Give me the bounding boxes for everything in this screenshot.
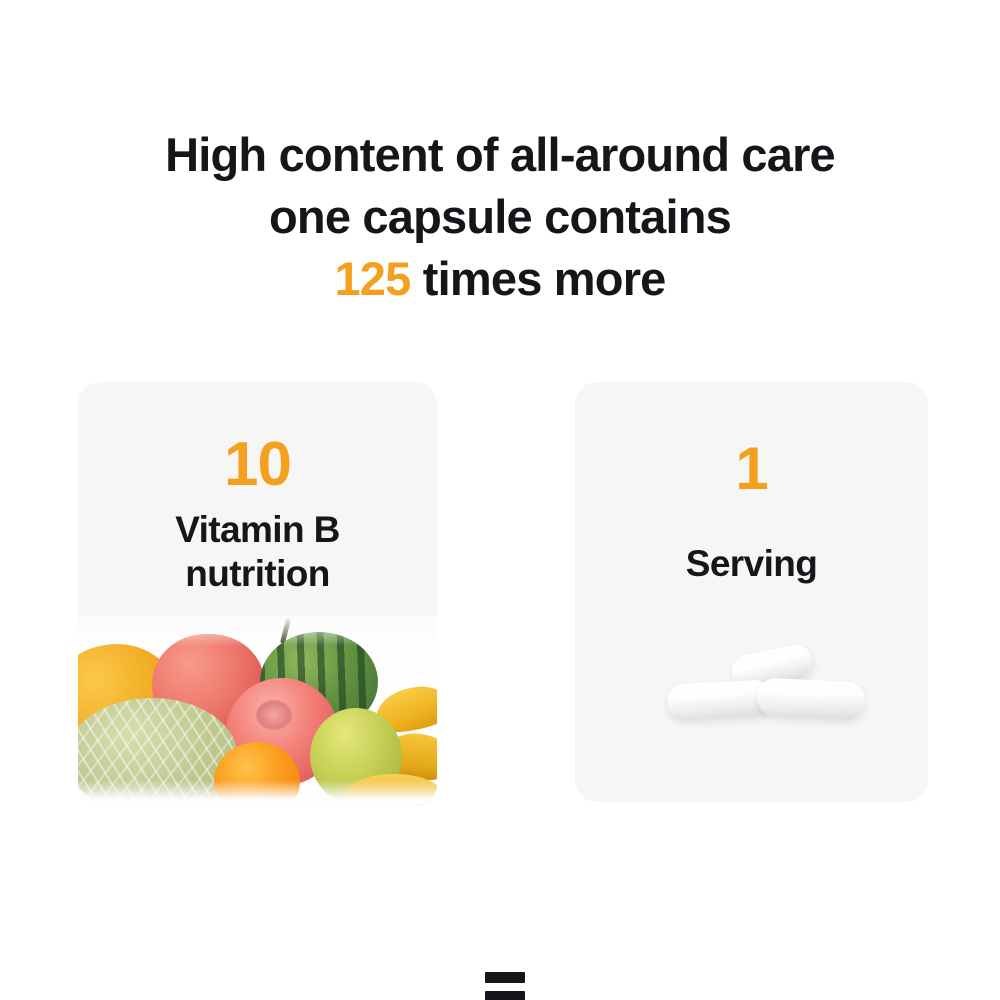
headline-line-3: 125 times more bbox=[0, 248, 1000, 310]
left-card-number: 10 bbox=[78, 434, 437, 496]
equals-icon bbox=[485, 972, 525, 1000]
left-card-label: Vitamin B nutrition bbox=[78, 508, 437, 596]
image-top-fade bbox=[78, 616, 437, 646]
right-card-number: 1 bbox=[575, 438, 928, 500]
assorted-fruit-image bbox=[78, 616, 437, 806]
promo-infographic: High content of all-around care one caps… bbox=[0, 0, 1000, 1000]
equals-bar-bottom bbox=[485, 991, 525, 1000]
comparison-row: 10 Vitamin B nutrition bbox=[0, 382, 1000, 806]
headline-line-2: one capsule contains bbox=[0, 186, 1000, 248]
headline-line-3-rest: times more bbox=[411, 252, 666, 305]
white-capsules-image bbox=[575, 646, 928, 756]
left-card-label-line-1: Vitamin B bbox=[175, 509, 340, 550]
headline-line-1: High content of all-around care bbox=[0, 124, 1000, 186]
left-card-label-line-2: nutrition bbox=[185, 553, 330, 594]
card-vitamin-b-nutrition: 10 Vitamin B nutrition bbox=[78, 382, 437, 806]
card-serving: 1 Serving bbox=[575, 382, 928, 802]
image-bottom-fade bbox=[78, 780, 437, 806]
page-title: High content of all-around care one caps… bbox=[0, 124, 1000, 310]
headline-accent-number: 125 bbox=[334, 252, 410, 305]
capsule-icon bbox=[756, 677, 866, 721]
right-card-label: Serving bbox=[575, 542, 928, 586]
equals-bar-top bbox=[485, 972, 525, 983]
